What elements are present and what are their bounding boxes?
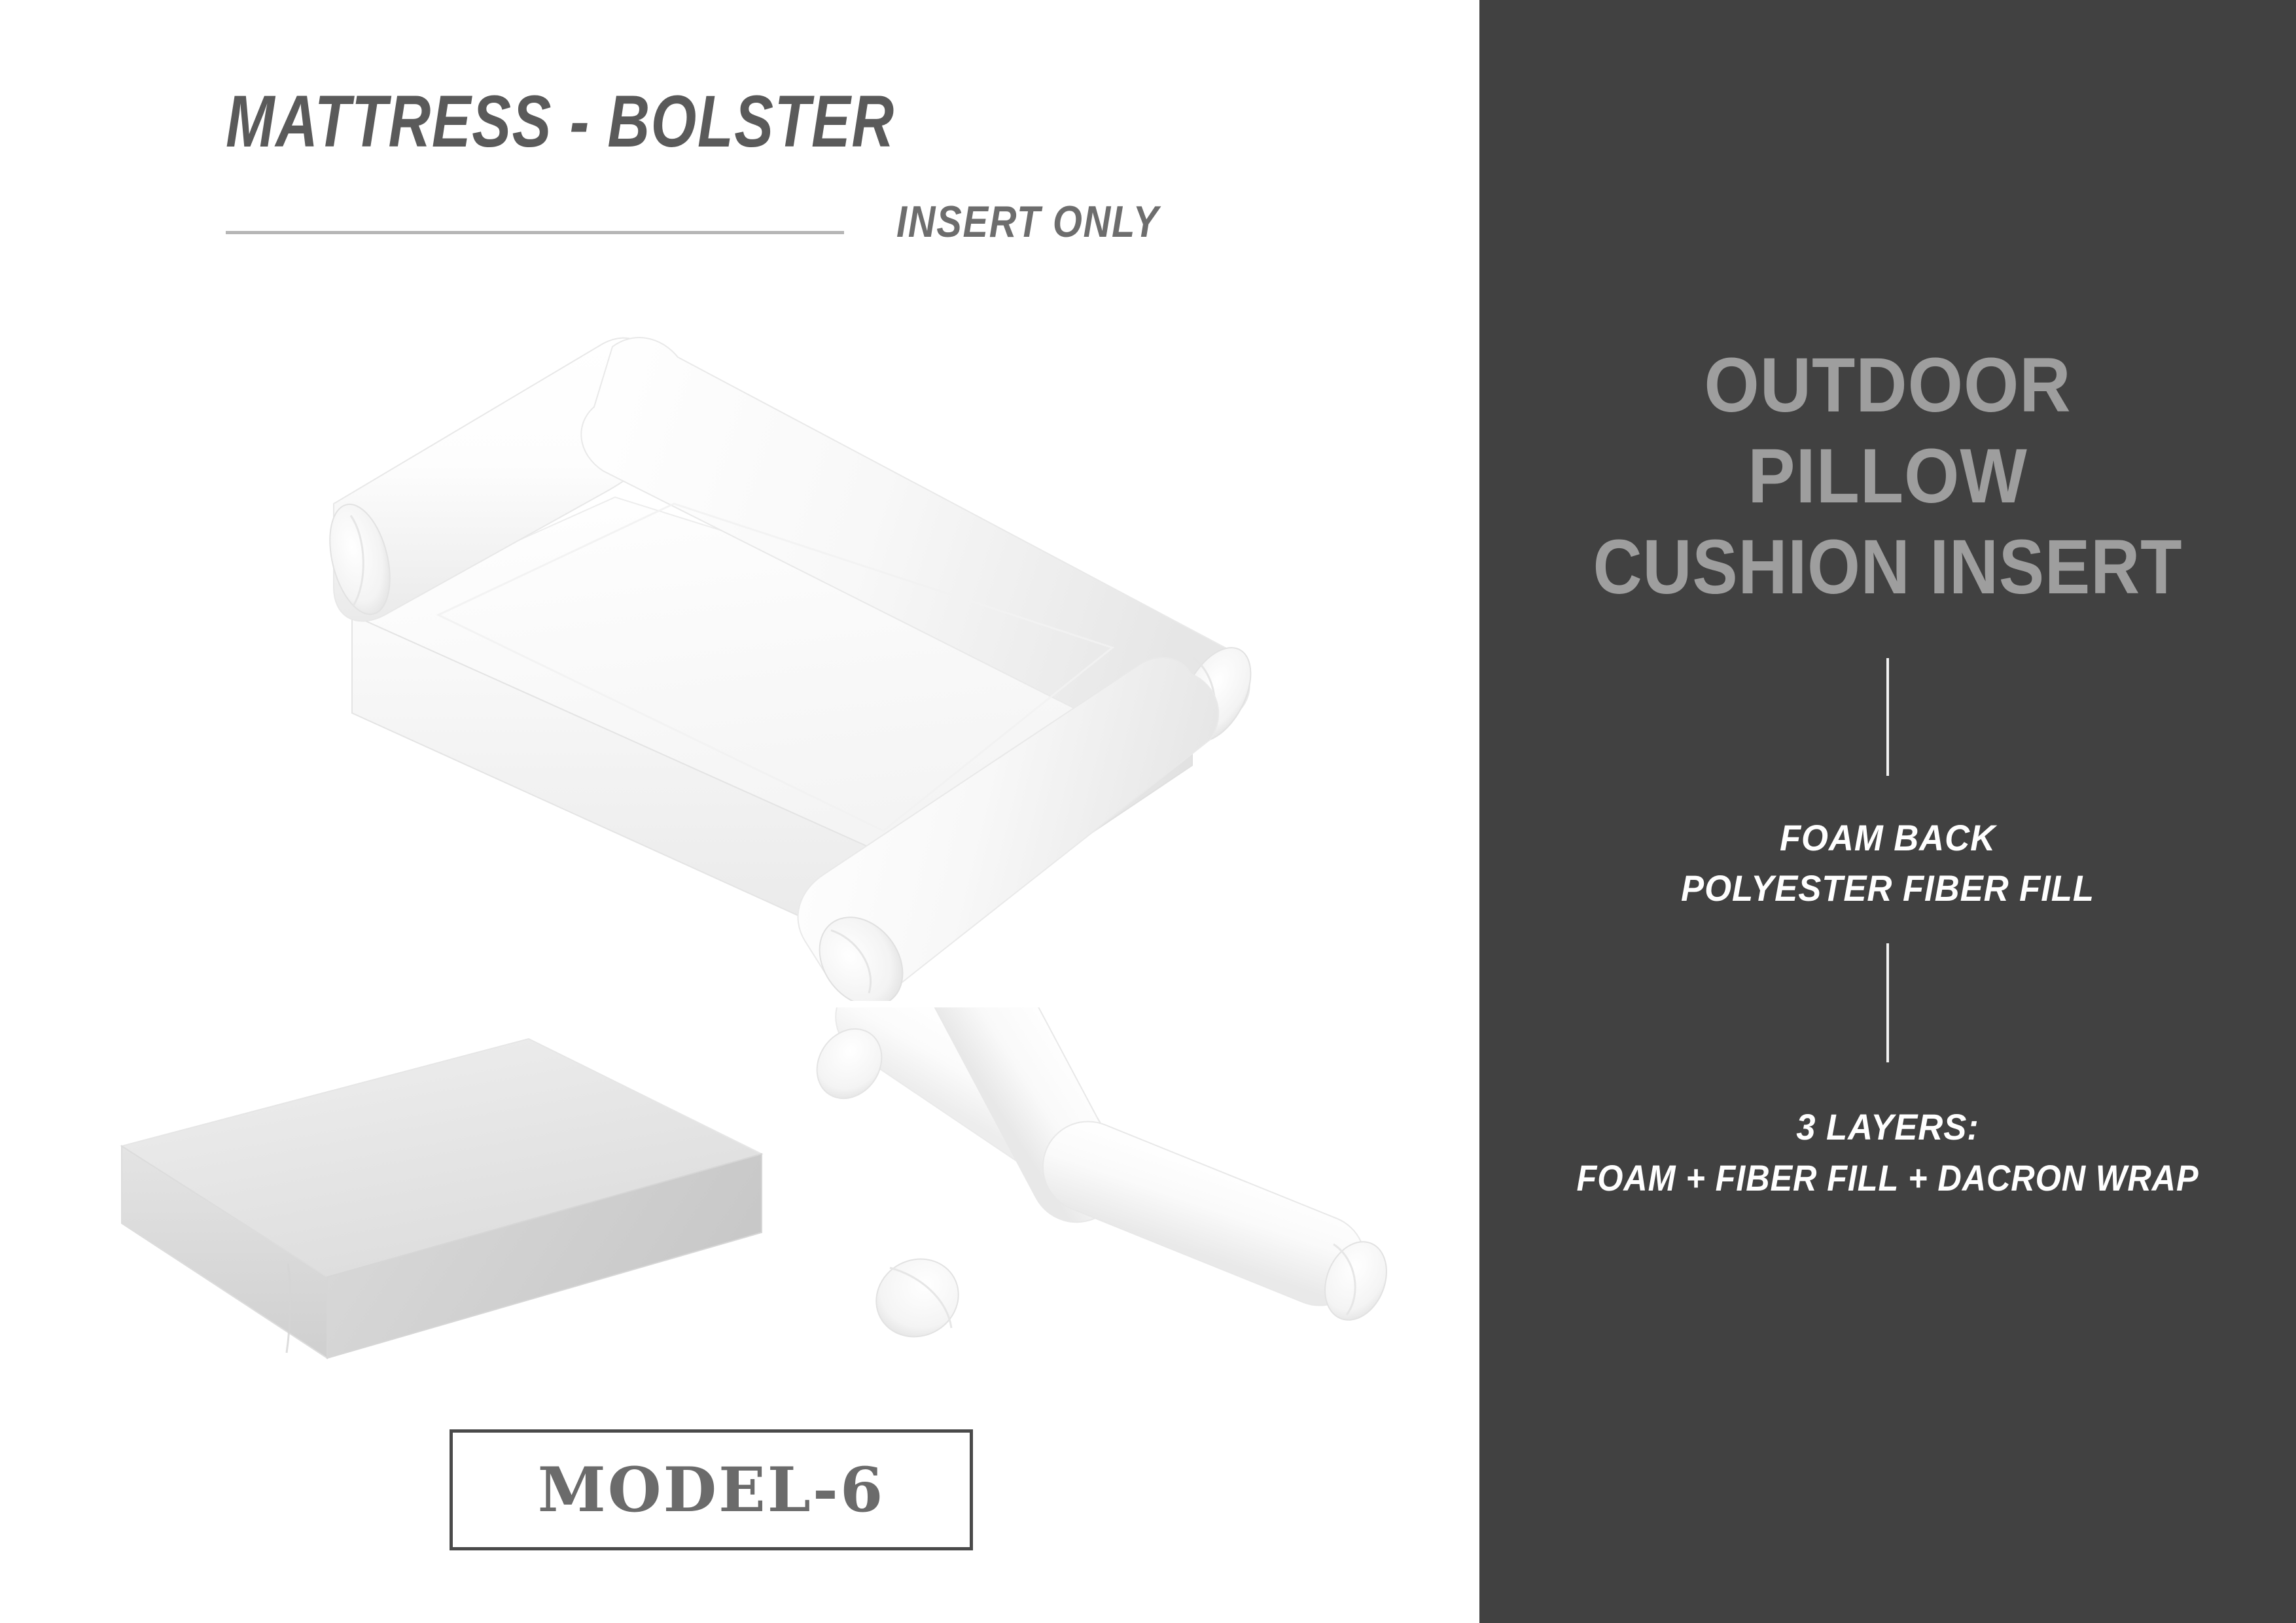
hero-product-photo [308,307,1276,1001]
bolster-pillows-illustration [792,1007,1394,1361]
model-number-label: MODEL-6 [538,1459,885,1521]
right-dark-panel: OUTDOOR PILLOW CUSHION INSERT FOAM BACK … [1479,0,2296,1623]
spec-fill-block: FOAM BACK POLYESTER FIBER FILL [1479,812,2296,914]
title-block: MATTRESS - BOLSTER INSERT ONLY [226,85,1338,281]
spec-layers-line-2: FOAM + FIBER FILL + DACRON WRAP [1520,1153,2255,1203]
spec-heading: OUTDOOR PILLOW CUSHION INSERT [1479,340,2296,614]
spec-fill-line-1: FOAM BACK [1504,812,2271,863]
foam-mattress-illustration [92,1007,785,1374]
spec-heading-line-2: PILLOW [1512,431,2263,522]
spec-fill-line-2: POLYESTER FIBER FILL [1504,863,2271,913]
spec-heading-line-3: CUSHION INSERT [1528,522,2247,613]
spec-heading-line-1: OUTDOOR [1512,340,2263,431]
spec-layers-block: 3 LAYERS: FOAM + FIBER FILL + DACRON WRA… [1479,1102,2296,1203]
divider-rule-top [1886,658,1889,776]
divider-rule-bottom [1886,943,1889,1062]
left-white-panel: MATTRESS - BOLSTER INSERT ONLY [0,0,1479,1623]
spec-layers-line-1: 3 LAYERS: [1504,1102,2271,1152]
title-rule-row: INSERT ONLY [226,200,1338,271]
spec-stack: OUTDOOR PILLOW CUSHION INSERT FOAM BACK … [1479,0,2296,1623]
title-underline-rule [226,231,844,234]
bolster-trio-photo [792,1007,1394,1361]
product-infographic: MATTRESS - BOLSTER INSERT ONLY [0,0,2296,1623]
mattress-slab-photo [92,1007,785,1374]
page-subtitle: INSERT ONLY [896,200,1159,244]
mattress-bolster-illustration [308,307,1276,1001]
page-title: MATTRESS - BOLSTER [226,85,1116,158]
model-badge: MODEL-6 [450,1429,973,1550]
